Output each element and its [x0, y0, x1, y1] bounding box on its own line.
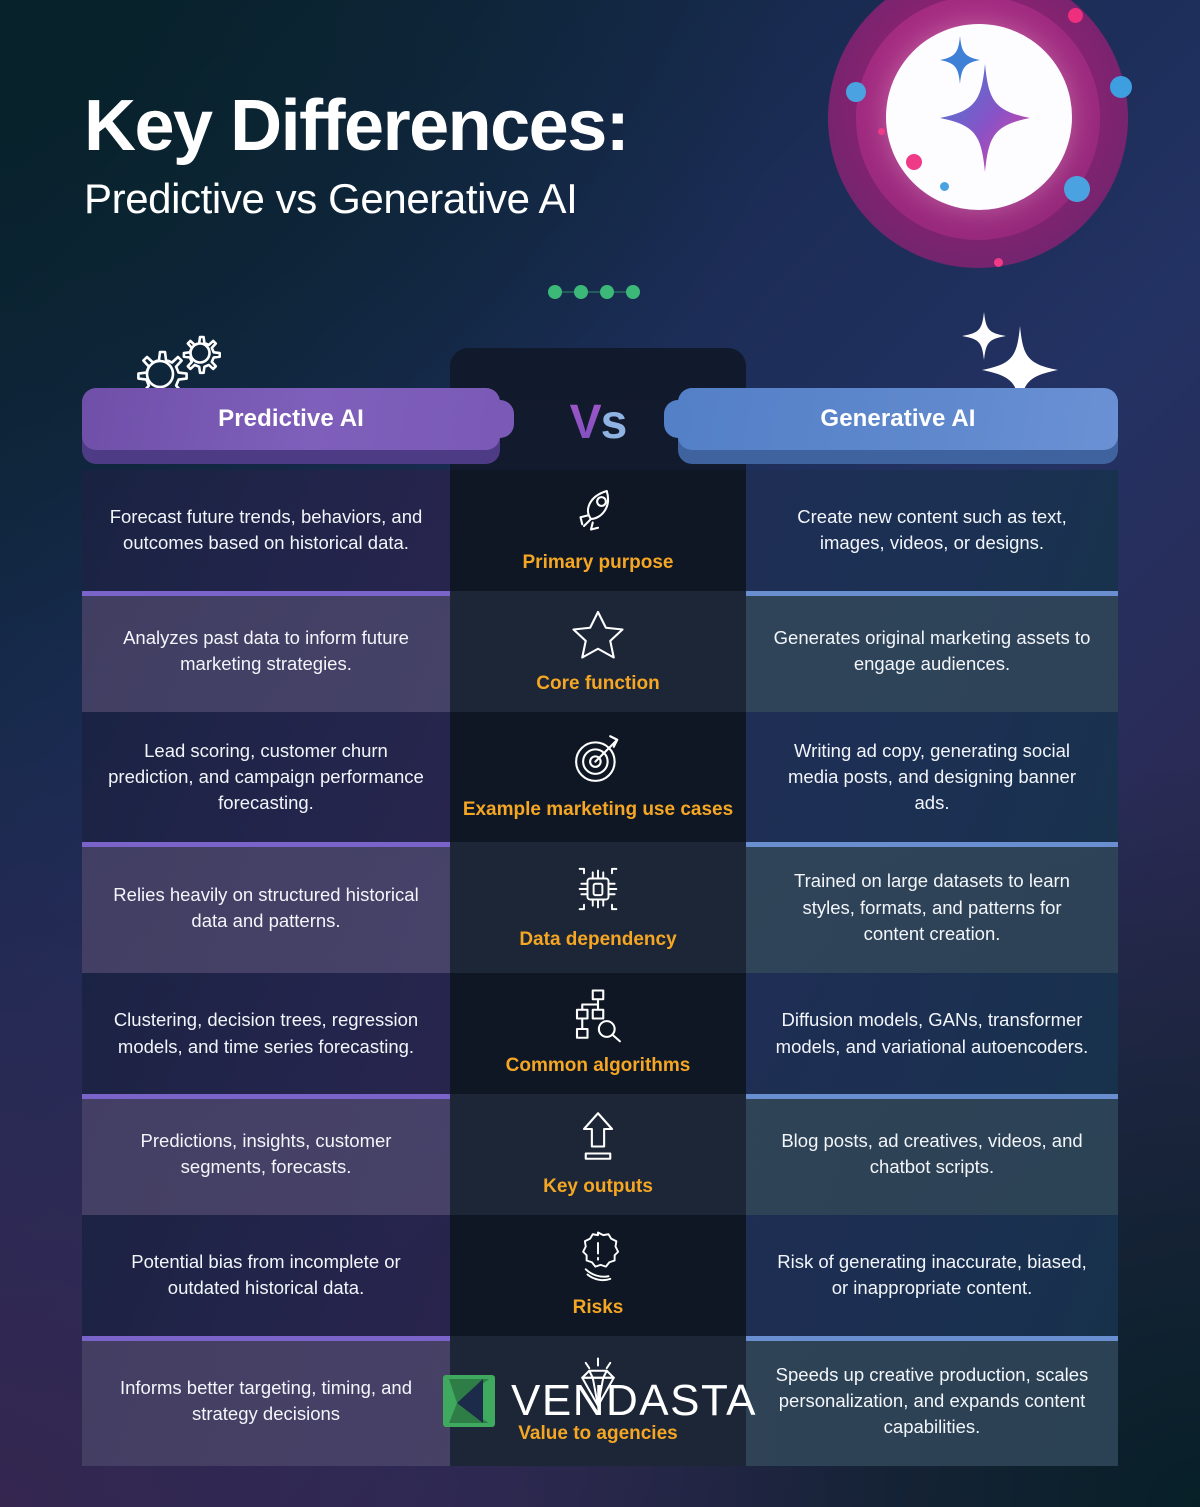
cell-attribute: Key outputs [450, 1094, 746, 1215]
cell-text: Generates original marketing assets to e… [770, 625, 1094, 678]
attribute-label: Risks [573, 1297, 624, 1320]
green-dot [600, 285, 614, 299]
cell-text: Relies heavily on structured historical … [106, 882, 426, 935]
title-line-1: Key Differences: [84, 90, 844, 162]
cell-predictive: Potential bias from incomplete or outdat… [82, 1215, 450, 1336]
green-dot [626, 285, 640, 299]
vs-separator: Vs [450, 395, 746, 450]
cell-text: Create new content such as text, images,… [770, 504, 1094, 557]
row-divider-left [82, 591, 450, 596]
attribute-label: Data dependency [519, 929, 676, 952]
row-divider-right [746, 1336, 1118, 1341]
hierarchy-search-icon [570, 987, 626, 1043]
table-row: Potential bias from incomplete or outdat… [82, 1215, 1118, 1336]
decor-dot [846, 82, 866, 102]
decor-dot [878, 128, 885, 135]
cell-predictive: Lead scoring, customer churn prediction,… [82, 712, 450, 843]
decor-dot [994, 258, 1003, 267]
row-divider-left [82, 1336, 450, 1341]
brand-logo: VENDASTA [0, 1375, 1200, 1427]
cell-attribute: Example marketing use cases [450, 712, 746, 843]
cell-text: Blog posts, ad creatives, videos, and ch… [770, 1128, 1094, 1181]
decor-dot [940, 182, 949, 191]
cell-generative: Diffusion models, GANs, transformer mode… [746, 973, 1118, 1094]
decor-dot [906, 154, 922, 170]
green-dot [574, 285, 588, 299]
cell-text: Trained on large datasets to learn style… [770, 868, 1094, 947]
cell-text: Predictions, insights, customer segments… [106, 1128, 426, 1181]
table-row: Lead scoring, customer churn prediction,… [82, 712, 1118, 843]
cell-text: Forecast future trends, behaviors, and o… [106, 504, 426, 557]
microchip-icon [570, 861, 626, 917]
cell-attribute: Core function [450, 591, 746, 712]
cell-generative: Trained on large datasets to learn style… [746, 842, 1118, 973]
target-arrow-icon [570, 731, 626, 787]
generative-label: Generative AI [820, 405, 975, 433]
decor-green-dots [548, 283, 640, 301]
decor-dot [1110, 76, 1132, 98]
column-header-predictive: Predictive AI [82, 388, 500, 450]
cell-generative: Blog posts, ad creatives, videos, and ch… [746, 1094, 1118, 1215]
row-divider-right [746, 1094, 1118, 1099]
brand-name: VENDASTA [511, 1376, 757, 1426]
vendasta-logo-icon [443, 1375, 495, 1427]
rocket-icon [570, 484, 626, 540]
cell-attribute: Common algorithms [450, 973, 746, 1094]
table-row: Analyzes past data to inform future mark… [82, 591, 1118, 712]
cell-attribute: Primary purpose [450, 470, 746, 591]
upload-arrow-icon [570, 1108, 626, 1164]
cell-attribute: Data dependency [450, 842, 746, 973]
cell-text: Risk of generating inaccurate, biased, o… [770, 1249, 1094, 1302]
cell-text: Potential bias from incomplete or outdat… [106, 1249, 426, 1302]
star-icon [570, 605, 626, 661]
row-divider-left [82, 842, 450, 847]
cell-generative: Generates original marketing assets to e… [746, 591, 1118, 712]
cell-attribute: Risks [450, 1215, 746, 1336]
green-dot [548, 285, 562, 299]
sparkle-small-icon [940, 36, 980, 84]
title-line-2: Predictive vs Generative AI [84, 176, 844, 222]
cell-text: Diffusion models, GANs, transformer mode… [770, 1007, 1094, 1060]
cell-text: Clustering, decision trees, regression m… [106, 1007, 426, 1060]
row-divider-left [82, 1094, 450, 1099]
attribute-label: Common algorithms [506, 1055, 691, 1078]
cell-predictive: Relies heavily on structured historical … [82, 842, 450, 973]
table-row: Clustering, decision trees, regression m… [82, 973, 1118, 1094]
cell-predictive: Forecast future trends, behaviors, and o… [82, 470, 450, 591]
decor-dot [1064, 176, 1090, 202]
attribute-label: Example marketing use cases [463, 799, 733, 822]
table-row: Forecast future trends, behaviors, and o… [82, 470, 1118, 591]
warning-hand-icon [570, 1229, 626, 1285]
attribute-label: Core function [536, 673, 660, 696]
table-row: Predictions, insights, customer segments… [82, 1094, 1118, 1215]
cell-text: Lead scoring, customer churn prediction,… [106, 738, 426, 817]
page-title: Key Differences: Predictive vs Generativ… [84, 90, 844, 222]
vs-s: s [601, 396, 627, 449]
cell-generative: Writing ad copy, generating social media… [746, 712, 1118, 843]
cell-generative: Create new content such as text, images,… [746, 470, 1118, 591]
decor-dot [1068, 8, 1083, 23]
vs-v: V [570, 396, 601, 449]
comparison-table: Forecast future trends, behaviors, and o… [82, 470, 1118, 1466]
cell-predictive: Analyzes past data to inform future mark… [82, 591, 450, 712]
cell-generative: Risk of generating inaccurate, biased, o… [746, 1215, 1118, 1336]
badge-bar: Predictive AI [82, 388, 500, 450]
attribute-label: Key outputs [543, 1176, 653, 1199]
sparkle-badge-icon [828, 0, 1128, 268]
table-row: Relies heavily on structured historical … [82, 842, 1118, 973]
cell-text: Analyzes past data to inform future mark… [106, 625, 426, 678]
cell-predictive: Clustering, decision trees, regression m… [82, 973, 450, 1094]
row-divider-right [746, 842, 1118, 847]
row-divider-right [746, 591, 1118, 596]
cell-predictive: Predictions, insights, customer segments… [82, 1094, 450, 1215]
cell-text: Writing ad copy, generating social media… [770, 738, 1094, 817]
attribute-label: Primary purpose [523, 552, 674, 575]
predictive-label: Predictive AI [218, 405, 364, 433]
infographic-page: Key Differences: Predictive vs Generativ… [0, 0, 1200, 1507]
